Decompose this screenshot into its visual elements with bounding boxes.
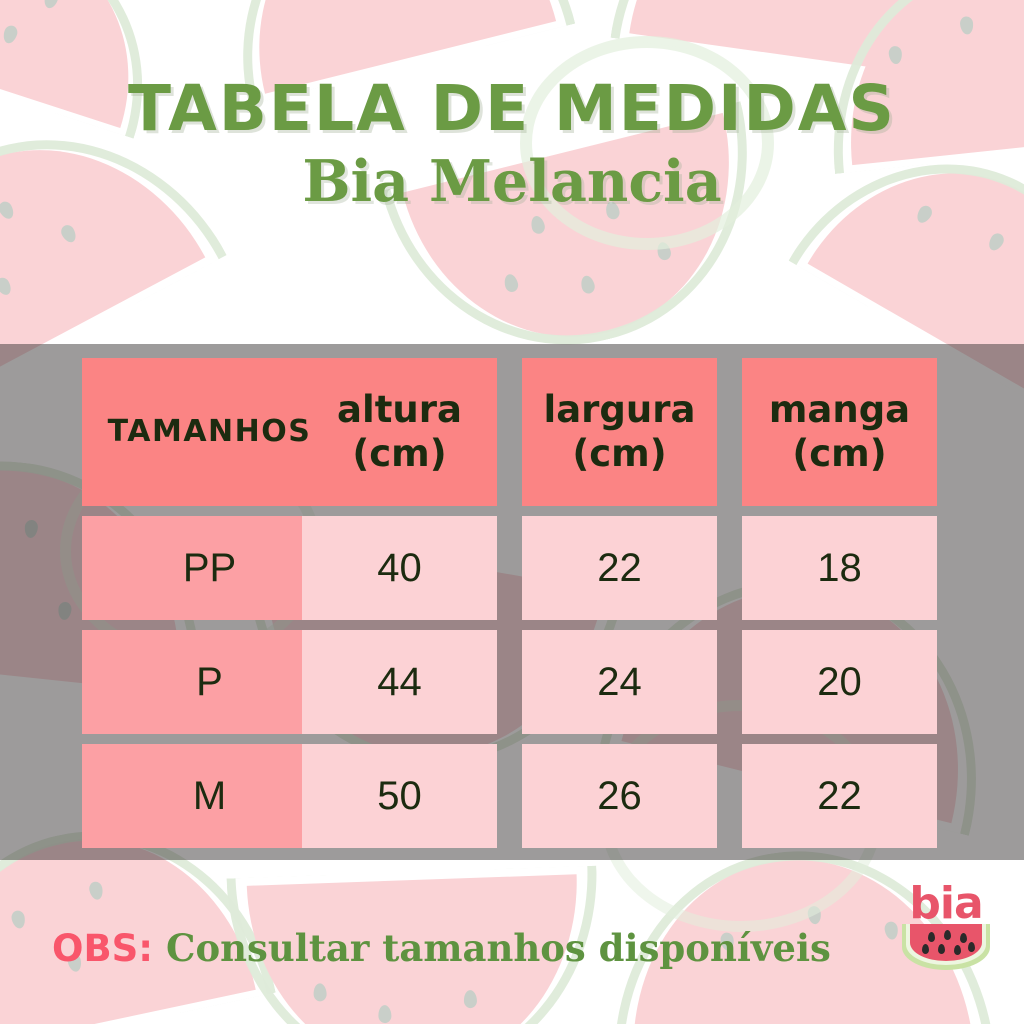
table-header-row: TAMANHOS altura (cm) largura (cm) manga … [82, 358, 942, 506]
brand-logo: bia [896, 884, 996, 988]
value-manga: 18 [742, 516, 937, 620]
value-largura: 22 [522, 516, 717, 620]
column-header-unit: (cm) [792, 432, 886, 476]
size-label: M [82, 744, 337, 848]
value-manga: 22 [742, 744, 937, 848]
column-header-unit: (cm) [352, 432, 446, 476]
size-label: P [82, 630, 337, 734]
brand-logo-wordmark: bia [896, 882, 996, 926]
column-header-label: TAMANHOS [108, 414, 312, 449]
page-title-block: TABELA DE MEDIDAS Bia Melancia [0, 76, 1024, 212]
column-header-manga: manga (cm) [742, 358, 937, 506]
table-row: P 44 24 20 [82, 630, 942, 734]
page-title: TABELA DE MEDIDAS [0, 76, 1024, 142]
column-header-largura: largura (cm) [522, 358, 717, 506]
table-row: M 50 26 22 [82, 744, 942, 848]
value-largura: 26 [522, 744, 717, 848]
column-header-tamanhos: TAMANHOS [82, 358, 337, 506]
size-chart-graphic: TABELA DE MEDIDAS Bia Melancia TAMANHOS … [0, 0, 1024, 1024]
column-header-label: manga [769, 388, 910, 432]
observation-prefix: OBS: [52, 927, 153, 970]
value-altura: 44 [302, 630, 497, 734]
observation-note: OBS: Consultar tamanhos disponíveis [52, 926, 831, 970]
value-manga: 20 [742, 630, 937, 734]
column-header-unit: (cm) [572, 432, 666, 476]
value-largura: 24 [522, 630, 717, 734]
column-header-label: largura [544, 388, 696, 432]
watermelon-slice-icon [902, 924, 990, 970]
value-altura: 40 [302, 516, 497, 620]
column-header-altura: altura (cm) [302, 358, 497, 506]
column-header-label: altura [337, 388, 462, 432]
size-label: PP [82, 516, 337, 620]
measurements-table: TAMANHOS altura (cm) largura (cm) manga … [62, 348, 962, 858]
observation-text: Consultar tamanhos disponíveis [166, 926, 831, 970]
value-altura: 50 [302, 744, 497, 848]
table-row: PP 40 22 18 [82, 516, 942, 620]
page-subtitle: Bia Melancia [0, 152, 1024, 212]
